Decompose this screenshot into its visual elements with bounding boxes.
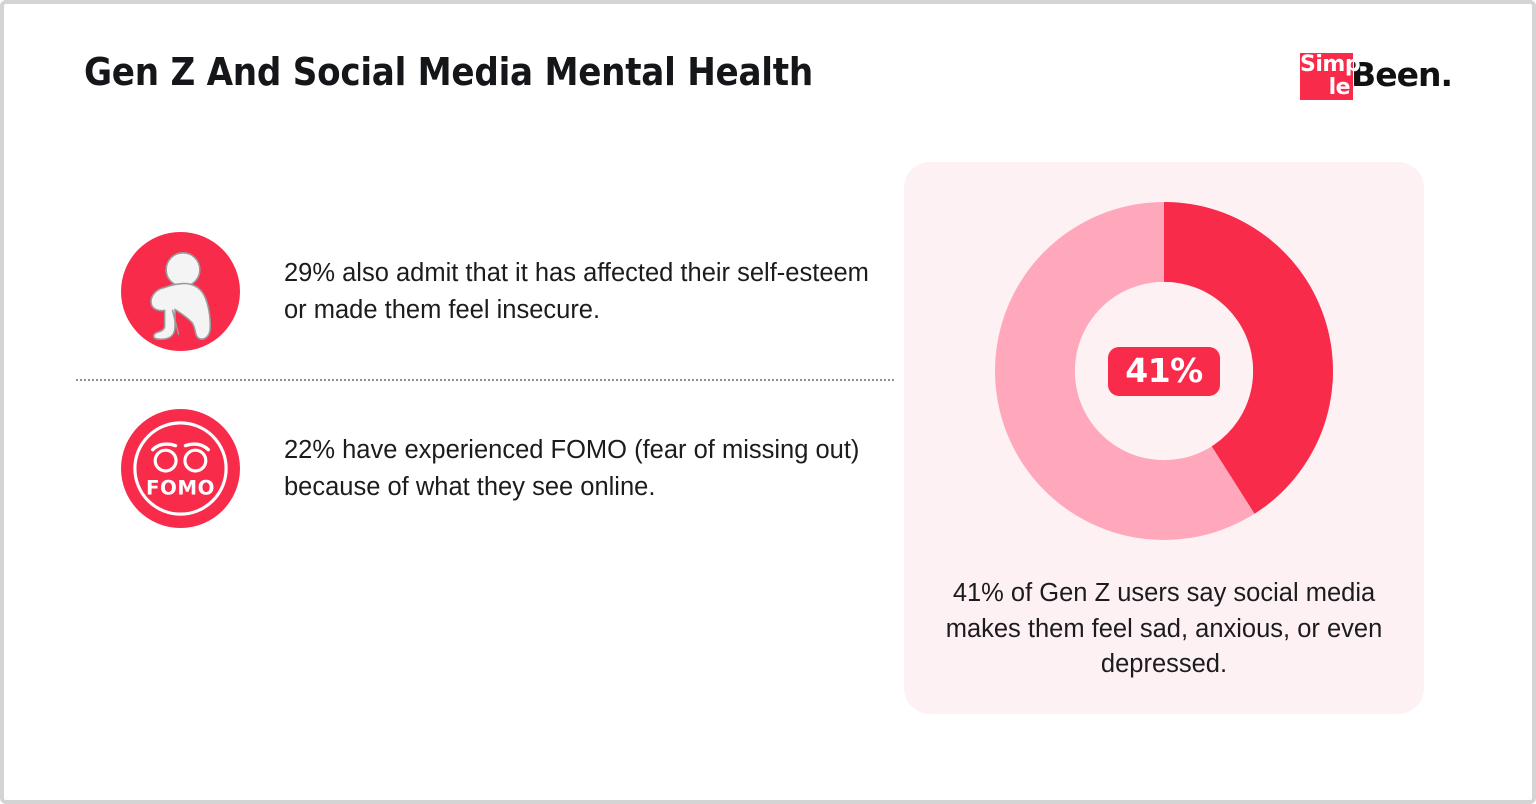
fact-text-fomo: 22% have experienced FOMO (fear of missi… [284,432,884,504]
logo-mark-top-text: Simp [1300,54,1350,76]
donut-center: 41% [1075,282,1253,460]
stat-card: 41% 41% of Gen Z users say social media … [904,162,1424,714]
svg-text:FOMO: FOMO [146,476,215,499]
logo-mark-icon: Simp le [1300,53,1353,100]
donut-center-badge: 41% [1108,347,1220,396]
sad-person-sitting-icon [121,232,240,351]
fact-item-fomo: FOMO 22% have experienced FOMO (fear of … [76,381,896,556]
page-title: Gen Z And Social Media Mental Health [84,50,813,94]
facts-list: 29% also admit that it has affected thei… [76,204,896,556]
fact-text-self-esteem: 29% also admit that it has affected thei… [284,255,884,327]
donut-chart: 41% [995,202,1333,540]
fomo-face-icon: FOMO [121,409,240,528]
fact-item-self-esteem: 29% also admit that it has affected thei… [76,204,896,379]
card-caption: 41% of Gen Z users say social media make… [938,576,1390,683]
infographic-canvas: Gen Z And Social Media Mental Health Sim… [0,0,1536,804]
brand-logo: Simp le Been. [1300,52,1452,100]
logo-mark-bottom-text: le [1300,77,1350,99]
header: Gen Z And Social Media Mental Health Sim… [84,44,1452,114]
logo-wordmark: Been. [1351,58,1452,94]
facts-divider [76,379,894,381]
